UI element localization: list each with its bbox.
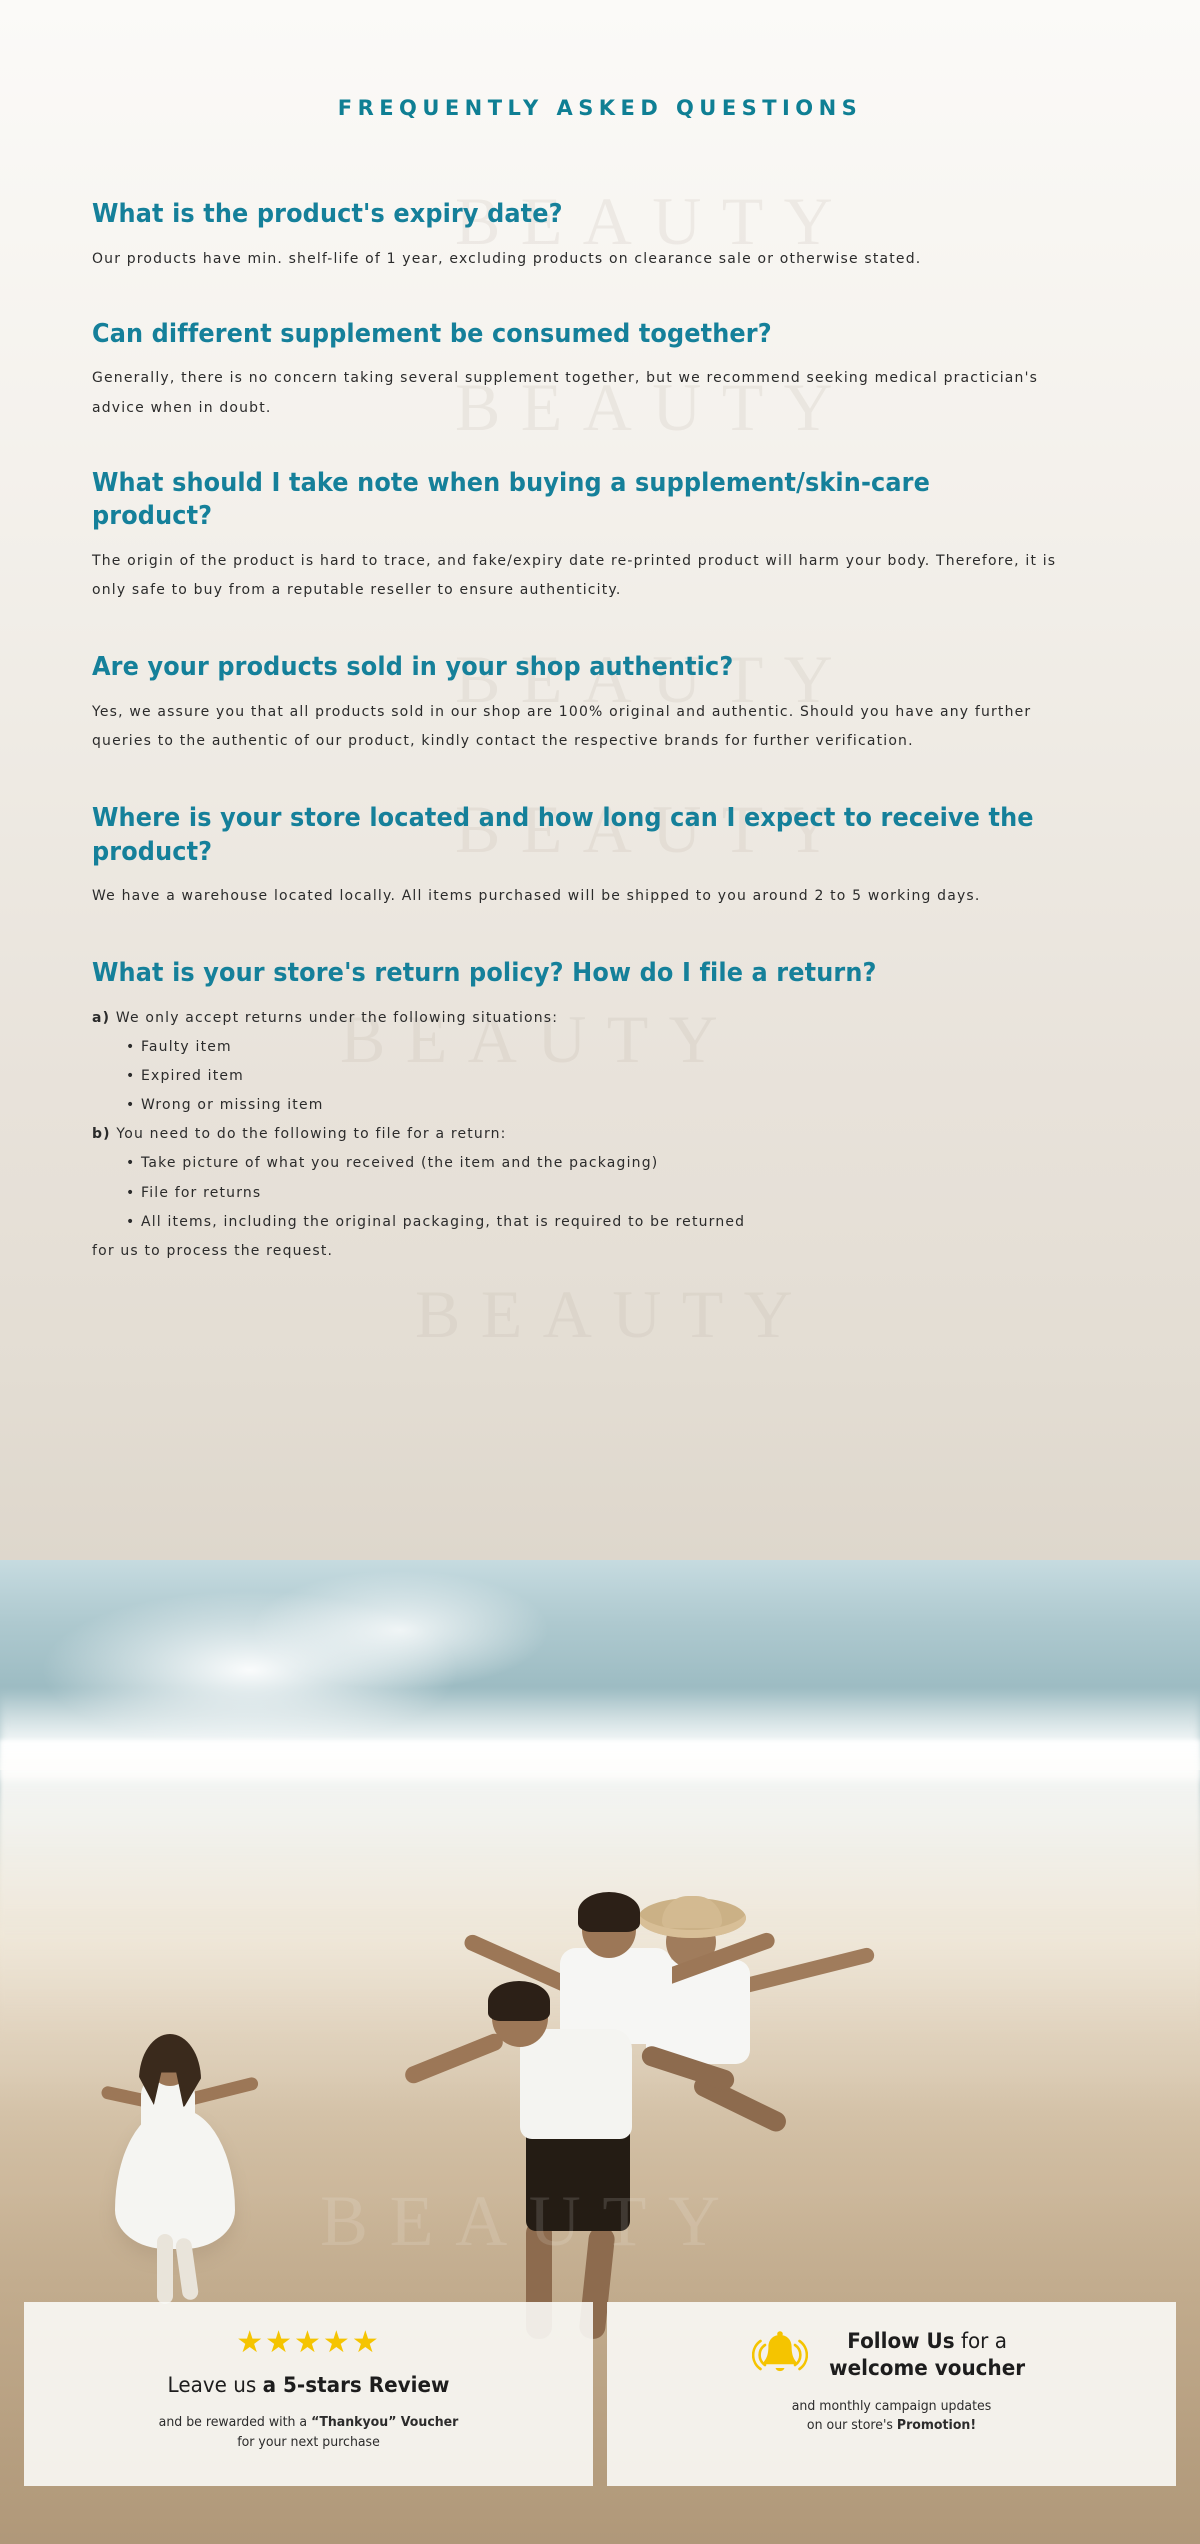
sun-glare-secondary — [250, 1570, 550, 1690]
faq-answer: Our products have min. shelf-life of 1 y… — [92, 245, 1078, 274]
follow-card-headline: Follow Us for a welcome voucher — [830, 2328, 1026, 2383]
returns-group-a: a) We only accept returns under the foll… — [92, 1004, 1078, 1033]
faq-item-2: Can different supplement be consumed tog… — [92, 318, 1108, 423]
follow-card-header-row: Follow Us for a welcome voucher — [625, 2328, 1158, 2383]
review-card-subtext: and be rewarded with a “Thankyou” Vouche… — [55, 2413, 561, 2452]
cta-card-row: ★★★★★ Leave us a 5-stars Review and be r… — [0, 2302, 1200, 2486]
list-text-b: You need to do the following to file for… — [116, 1126, 506, 1142]
list-marker-b: b) — [92, 1126, 111, 1142]
bullet-text: File for returns — [141, 1185, 261, 1201]
review-sub-line2: for your next purchase — [237, 2435, 380, 2450]
beach-hero-image: BEAUTY ★★★★★ Leave us a 5-stars Review a… — [0, 1560, 1200, 2544]
bullet-glyph: • — [126, 1068, 141, 1084]
bell-icon — [752, 2329, 808, 2381]
figure-carrier-boy — [480, 1939, 710, 2339]
returns-group-b: b) You need to do the following to file … — [92, 1120, 1078, 1149]
follow-headline-plain: for a — [955, 2329, 1007, 2353]
faq-item-4: Are your products sold in your shop auth… — [92, 651, 1108, 756]
follow-headline-bold: Follow Us — [848, 2329, 955, 2353]
bullet-glyph: • — [126, 1039, 141, 1055]
list-item: • Wrong or missing item — [92, 1091, 1078, 1120]
bullet-text: Expired item — [141, 1068, 244, 1084]
page-title: FREQUENTLY ASKED QUESTIONS — [92, 0, 1108, 120]
faq-question: Can different supplement be consumed tog… — [92, 318, 1047, 352]
list-item: • Faulty item — [92, 1033, 1078, 1062]
review-card-headline: Leave us a 5-stars Review — [55, 2372, 561, 2399]
list-item: • Take picture of what you received (the… — [92, 1149, 1078, 1178]
faq-item-3: What should I take note when buying a su… — [92, 467, 1108, 606]
faq-answer: Generally, there is no concern taking se… — [92, 364, 1078, 422]
faq-answer: The origin of the product is hard to tra… — [92, 547, 1078, 605]
returns-closing-text: for us to process the request. — [92, 1237, 1078, 1266]
faq-question: Where is your store located and how long… — [92, 802, 1047, 869]
list-item: • File for returns — [92, 1179, 1078, 1208]
list-text-a: We only accept returns under the followi… — [116, 1010, 558, 1026]
faq-answer: We have a warehouse located locally. All… — [92, 882, 1078, 911]
review-sub-bold: “Thankyou” Voucher — [311, 2415, 458, 2430]
bullet-glyph: • — [126, 1155, 141, 1171]
bullet-text: Wrong or missing item — [141, 1097, 324, 1113]
follow-sub-line2-plain: on our store's — [807, 2418, 897, 2433]
watermark-beauty: BEAUTY — [415, 1275, 813, 1354]
figure-girl — [95, 2004, 275, 2304]
review-card[interactable]: ★★★★★ Leave us a 5-stars Review and be r… — [24, 2302, 593, 2486]
review-headline-bold: a 5-stars Review — [263, 2373, 450, 2397]
follow-sub-line2-bold: Promotion! — [897, 2418, 976, 2433]
list-marker-a: a) — [92, 1010, 110, 1026]
follow-card-subtext: and monthly campaign updates on our stor… — [638, 2397, 1144, 2436]
follow-sub-line1: and monthly campaign updates — [792, 2399, 992, 2414]
follow-card[interactable]: Follow Us for a welcome voucher and mont… — [607, 2302, 1176, 2486]
list-item: • Expired item — [92, 1062, 1078, 1091]
faq-item-1: What is the product's expiry date? Our p… — [92, 120, 1108, 274]
faq-item-returns: What is your store's return policy? How … — [92, 957, 1108, 1266]
faq-section: BEAUTY BEAUTY BEAUTY BEAUTY BEAUTY BEAUT… — [0, 0, 1200, 1560]
faq-question: What is your store's return policy? How … — [92, 957, 1047, 991]
bullet-text: Take picture of what you received (the i… — [141, 1155, 658, 1171]
faq-answer: Yes, we assure you that all products sol… — [92, 698, 1078, 756]
bullet-text: All items, including the original packag… — [141, 1214, 745, 1230]
bullet-glyph: • — [126, 1185, 141, 1201]
review-sub-plain: and be rewarded with a — [159, 2415, 311, 2430]
list-item: • All items, including the original pack… — [92, 1208, 1078, 1237]
faq-question: What should I take note when buying a su… — [92, 467, 1047, 534]
bullet-glyph: • — [126, 1214, 141, 1230]
star-rating-icon: ★★★★★ — [42, 2328, 575, 2358]
review-headline-plain: Leave us — [168, 2373, 263, 2397]
faq-item-5: Where is your store located and how long… — [92, 802, 1108, 911]
follow-headline-line2: welcome voucher — [830, 2356, 1026, 2380]
bullet-glyph: • — [126, 1097, 141, 1113]
faq-question: What is the product's expiry date? — [92, 198, 1047, 232]
bullet-text: Faulty item — [141, 1039, 232, 1055]
faq-question: Are your products sold in your shop auth… — [92, 651, 1047, 685]
faq-promo-page: BEAUTY BEAUTY BEAUTY BEAUTY BEAUTY BEAUT… — [0, 0, 1200, 2544]
